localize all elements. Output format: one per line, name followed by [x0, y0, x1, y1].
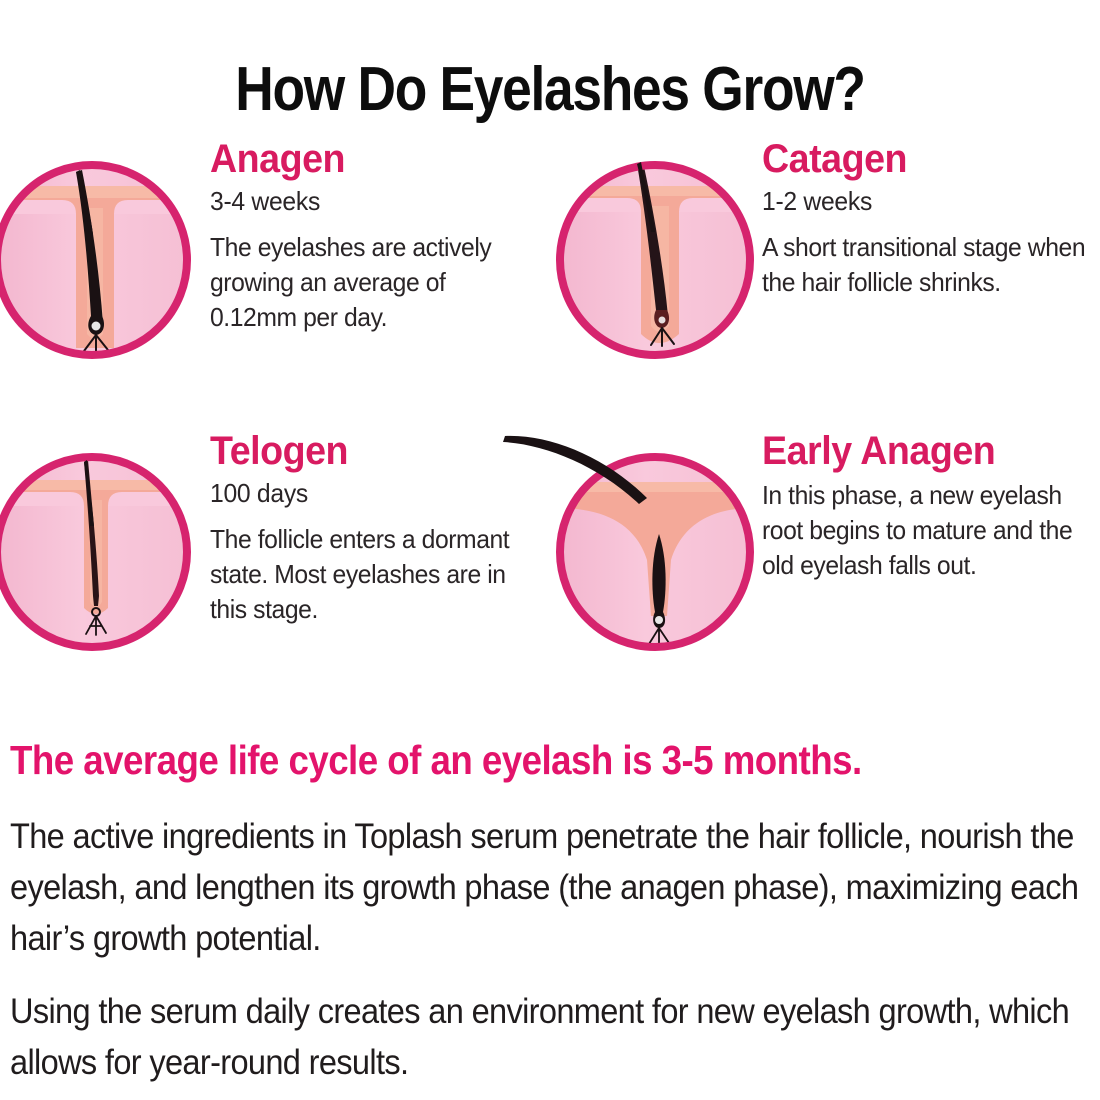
stage-description: The follicle enters a dormant state. Mos…: [210, 522, 533, 627]
follicle-catagen-icon: [555, 138, 765, 363]
stage-text-anagen: Anagen 3-4 weeks The eyelashes are activ…: [210, 136, 550, 335]
summary-paragraph: Using the serum daily creates an environ…: [10, 986, 1089, 1088]
stage-name: Anagen: [210, 136, 530, 182]
stage-text-telogen: Telogen 100 days The follicle enters a d…: [210, 428, 550, 627]
stage-duration: 100 days: [210, 476, 533, 510]
page-title: How Do Eyelashes Grow?: [77, 54, 1023, 126]
stage-card-telogen: Telogen 100 days The follicle enters a d…: [0, 420, 550, 710]
follicle-early-anagen-icon: [555, 430, 765, 655]
stage-duration: 3-4 weeks: [210, 184, 533, 218]
summary-paragraph: The active ingredients in Toplash serum …: [10, 811, 1089, 964]
stage-duration: 1-2 weeks: [762, 184, 1090, 218]
stage-name: Catagen: [762, 136, 1086, 182]
summary-section: The average life cycle of an eyelash is …: [10, 735, 1095, 1088]
stage-name: Early Anagen: [762, 428, 1086, 474]
stage-name: Telogen: [210, 428, 530, 474]
stage-card-anagen: Anagen 3-4 weeks The eyelashes are activ…: [0, 128, 550, 418]
stage-description: The eyelashes are actively growing an av…: [210, 230, 533, 335]
stage-grid: Anagen 3-4 weeks The eyelashes are activ…: [0, 128, 1100, 688]
stage-description: A short transitional stage when the hair…: [762, 230, 1090, 300]
stage-text-early-anagen: Early Anagen In this phase, a new eyelas…: [762, 428, 1100, 583]
stage-card-catagen: Catagen 1-2 weeks A short transitional s…: [550, 128, 1100, 418]
stage-text-catagen: Catagen 1-2 weeks A short transitional s…: [762, 136, 1100, 300]
follicle-telogen-icon: [0, 430, 202, 655]
stage-description: In this phase, a new eyelash root begins…: [762, 478, 1090, 583]
stage-card-early-anagen: Early Anagen In this phase, a new eyelas…: [550, 420, 1100, 710]
summary-headline: The average life cycle of an eyelash is …: [10, 735, 981, 785]
follicle-anagen-icon: [0, 138, 202, 363]
